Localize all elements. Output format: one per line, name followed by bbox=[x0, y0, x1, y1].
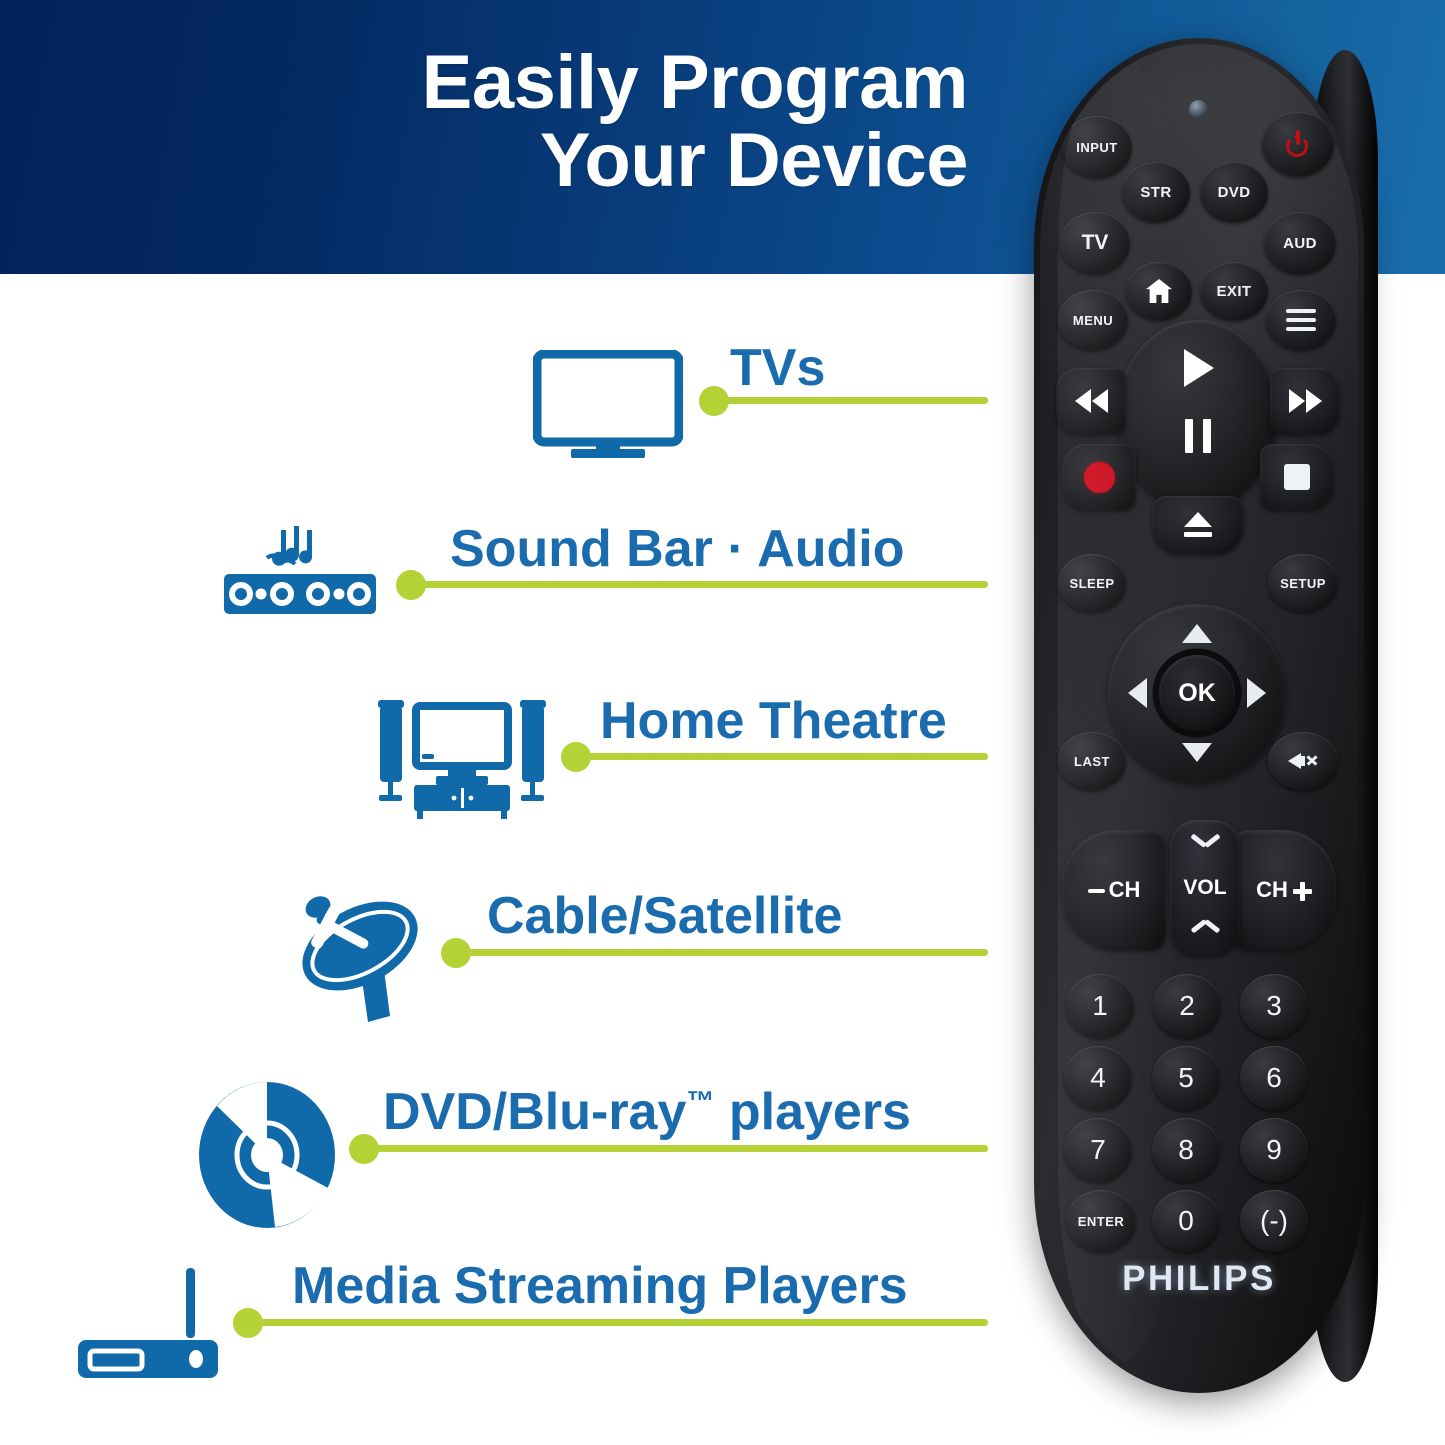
record-button[interactable] bbox=[1062, 444, 1136, 510]
dpad-left-icon[interactable] bbox=[1128, 678, 1147, 708]
list-item-label-tail: players bbox=[714, 1083, 911, 1141]
remote-control-product-image: INPUT STR DVD TV AUD EXIT bbox=[1012, 38, 1402, 1398]
channel-up-button[interactable]: CH bbox=[1232, 830, 1336, 950]
remote-face: INPUT STR DVD TV AUD EXIT bbox=[1040, 44, 1358, 1386]
home-button[interactable] bbox=[1126, 262, 1192, 320]
record-icon bbox=[1084, 462, 1115, 493]
eject-icon bbox=[1183, 512, 1213, 538]
dpad-up-icon[interactable] bbox=[1182, 624, 1212, 643]
list-item[interactable]: Home Theatre bbox=[0, 682, 1010, 832]
channel-down-label: CH bbox=[1088, 877, 1141, 903]
dpad[interactable]: OK bbox=[1108, 604, 1286, 782]
list-item-label: Media Streaming Players bbox=[292, 1260, 908, 1312]
rule-line bbox=[576, 753, 988, 760]
play-button[interactable] bbox=[1177, 346, 1221, 390]
power-button[interactable] bbox=[1262, 112, 1334, 176]
mute-icon bbox=[1288, 749, 1318, 773]
tv-button[interactable]: TV bbox=[1060, 212, 1130, 274]
key-dash[interactable]: (-) bbox=[1240, 1190, 1308, 1252]
list-item-label: Home Theatre bbox=[600, 695, 947, 747]
channel-down-button[interactable]: CH bbox=[1062, 830, 1166, 950]
list-item-label: Sound Bar · Audio bbox=[450, 523, 904, 575]
aud-button[interactable]: AUD bbox=[1264, 212, 1336, 274]
page-title: Easily Program Your Device bbox=[0, 44, 968, 199]
trademark-mark: ™ bbox=[686, 1086, 714, 1117]
input-button[interactable]: INPUT bbox=[1062, 116, 1132, 178]
setup-button[interactable]: SETUP bbox=[1268, 554, 1338, 612]
plus-icon bbox=[1293, 882, 1312, 901]
channel-up-label: CH bbox=[1256, 877, 1312, 903]
volume-up-icon[interactable] bbox=[1192, 833, 1219, 847]
eject-button[interactable] bbox=[1152, 496, 1244, 554]
list-item[interactable]: DVD/Blu-ray™ players bbox=[0, 1068, 1010, 1218]
list-item[interactable]: Media Streaming Players bbox=[0, 1240, 1010, 1390]
fast-forward-icon bbox=[1289, 389, 1322, 413]
page-title-line-1: Easily Program bbox=[422, 40, 968, 125]
key-6[interactable]: 6 bbox=[1240, 1046, 1308, 1110]
list-item[interactable]: Cable/Satellite bbox=[0, 874, 1010, 1024]
ir-indicator-icon bbox=[1189, 100, 1208, 119]
pause-icon bbox=[1185, 419, 1211, 453]
connector-line bbox=[0, 330, 1010, 480]
volume-label: VOL bbox=[1183, 876, 1226, 900]
rule-line bbox=[456, 949, 988, 956]
page-title-line-2: Your Device bbox=[0, 122, 968, 200]
key-2[interactable]: 2 bbox=[1153, 974, 1221, 1038]
key-1[interactable]: 1 bbox=[1066, 974, 1134, 1038]
sleep-button[interactable]: SLEEP bbox=[1058, 554, 1126, 612]
rule-line bbox=[714, 397, 988, 404]
mute-button[interactable] bbox=[1268, 732, 1338, 790]
fast-forward-button[interactable] bbox=[1270, 368, 1340, 434]
rule-line bbox=[411, 581, 988, 588]
list-item-label: DVD/Blu-ray™ players bbox=[383, 1086, 911, 1138]
key-7[interactable]: 7 bbox=[1064, 1118, 1132, 1182]
key-3[interactable]: 3 bbox=[1240, 974, 1308, 1038]
str-button[interactable]: STR bbox=[1122, 162, 1190, 222]
philips-logo: PHILIPS bbox=[1040, 1259, 1358, 1299]
stop-icon bbox=[1284, 464, 1310, 490]
play-icon bbox=[1184, 349, 1214, 387]
key-8[interactable]: 8 bbox=[1152, 1118, 1220, 1182]
rule-line bbox=[248, 1319, 988, 1326]
key-4[interactable]: 4 bbox=[1064, 1046, 1132, 1110]
stop-button[interactable] bbox=[1260, 444, 1334, 510]
home-icon bbox=[1146, 279, 1172, 303]
device-list: TVs bbox=[0, 274, 1010, 1445]
rewind-icon bbox=[1075, 389, 1108, 413]
volume-rocker[interactable]: VOL bbox=[1170, 820, 1240, 956]
list-button[interactable] bbox=[1266, 290, 1336, 350]
list-icon bbox=[1286, 309, 1316, 331]
infographic-canvas: Easily Program Your Device TVs bbox=[0, 0, 1445, 1445]
dpad-right-icon[interactable] bbox=[1247, 678, 1266, 708]
dpad-down-icon[interactable] bbox=[1182, 743, 1212, 762]
volume-down-icon[interactable] bbox=[1192, 929, 1219, 943]
dvd-button[interactable]: DVD bbox=[1200, 162, 1268, 222]
enter-button[interactable]: ENTER bbox=[1066, 1190, 1136, 1252]
minus-icon bbox=[1088, 889, 1105, 894]
list-item-label: TVs bbox=[730, 342, 825, 394]
list-item-label-main: DVD/Blu-ray bbox=[383, 1083, 686, 1141]
list-item-label: Cable/Satellite bbox=[487, 890, 842, 942]
list-item[interactable]: TVs bbox=[0, 330, 1010, 480]
list-item[interactable]: Sound Bar · Audio bbox=[0, 510, 1010, 660]
last-button[interactable]: LAST bbox=[1058, 732, 1126, 790]
key-5[interactable]: 5 bbox=[1152, 1046, 1220, 1110]
power-icon bbox=[1284, 130, 1312, 158]
rule-line bbox=[364, 1145, 988, 1152]
ok-button[interactable]: OK bbox=[1159, 655, 1235, 731]
exit-button[interactable]: EXIT bbox=[1200, 262, 1268, 320]
rewind-button[interactable] bbox=[1056, 368, 1126, 434]
key-9[interactable]: 9 bbox=[1240, 1118, 1308, 1182]
menu-button[interactable]: MENU bbox=[1058, 290, 1128, 350]
key-0[interactable]: 0 bbox=[1152, 1190, 1220, 1252]
pause-button[interactable] bbox=[1179, 416, 1217, 456]
